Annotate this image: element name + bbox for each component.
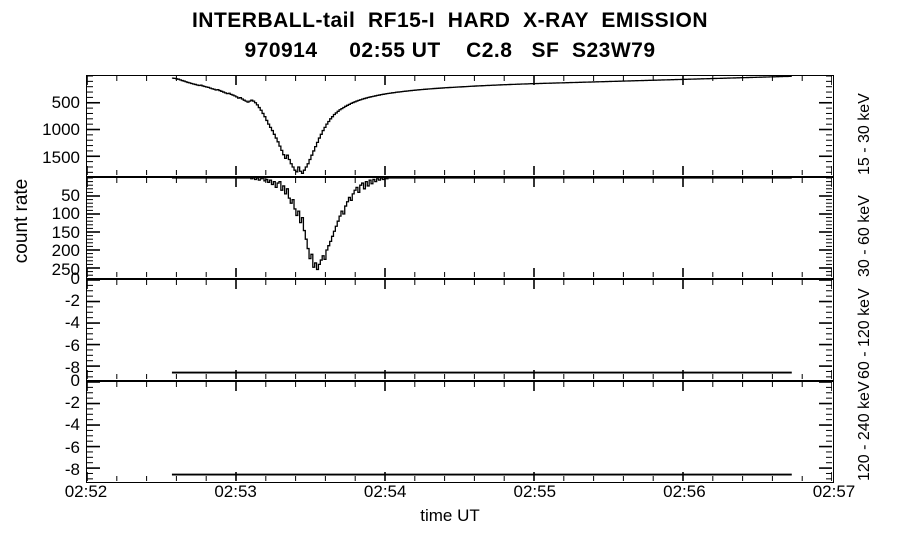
panel-120-240-ytick-label: -8 xyxy=(0,460,80,480)
panel-30-60-band-label: 30 - 60 keV xyxy=(856,195,874,277)
panel-30-60-trace xyxy=(172,178,792,269)
panel-60-120 xyxy=(86,279,834,381)
hard-xray-emission-chart: INTERBALL-tail RF15-I HARD X-RAY EMISSIO… xyxy=(0,0,900,542)
panel-15-30-ytick-label: 500 xyxy=(0,93,80,113)
panel-30-60-plot-area xyxy=(87,178,832,277)
panel-120-240-band-label: 120 - 240 keV xyxy=(856,381,874,481)
xtick-label-1: 02:53 xyxy=(196,482,276,502)
chart-title-block: INTERBALL-tail RF15-I HARD X-RAY EMISSIO… xyxy=(0,6,900,66)
panel-15-30 xyxy=(86,75,834,177)
panel-60-120-ytick-label: 0 xyxy=(0,269,80,289)
chart-title-line-1: INTERBALL-tail RF15-I HARD X-RAY EMISSIO… xyxy=(0,6,900,36)
panel-60-120-band-label: 60 - 120 keV xyxy=(856,288,874,379)
xtick-label-3: 02:55 xyxy=(495,482,575,502)
x-axis-label: time UT xyxy=(0,506,900,526)
xtick-label-2: 02:54 xyxy=(345,482,425,502)
xtick-label-5: 02:57 xyxy=(794,482,874,502)
panel-30-60-ytick-label: 200 xyxy=(0,241,80,261)
panel-60-120-plot-area xyxy=(87,280,832,379)
panel-60-120-ytick-label: -4 xyxy=(0,313,80,333)
panel-120-240-plot-area xyxy=(87,382,832,481)
panel-15-30-trace xyxy=(172,76,792,173)
xtick-label-4: 02:56 xyxy=(644,482,724,502)
panel-15-30-ytick-label: 1000 xyxy=(0,120,80,140)
panel-30-60-ytick-label: 150 xyxy=(0,223,80,243)
panel-30-60 xyxy=(86,177,834,279)
panel-120-240-ytick-label: -2 xyxy=(0,393,80,413)
panel-60-120-ytick-label: -2 xyxy=(0,291,80,311)
xtick-label-0: 02:52 xyxy=(46,482,126,502)
panel-15-30-ytick-label: 1500 xyxy=(0,148,80,168)
panel-30-60-ytick-label: 50 xyxy=(0,186,80,206)
panel-120-240 xyxy=(86,381,834,483)
panel-120-240-ytick-label: -6 xyxy=(0,438,80,458)
panel-15-30-plot-area xyxy=(87,76,832,175)
panel-120-240-ytick-label: -4 xyxy=(0,415,80,435)
panel-15-30-band-label: 15 - 30 keV xyxy=(856,93,874,175)
panel-60-120-ytick-label: -6 xyxy=(0,336,80,356)
chart-title-line-2: 970914 02:55 UT C2.8 SF S23W79 xyxy=(0,36,900,66)
panel-30-60-ytick-label: 100 xyxy=(0,204,80,224)
panel-120-240-ytick-label: 0 xyxy=(0,371,80,391)
